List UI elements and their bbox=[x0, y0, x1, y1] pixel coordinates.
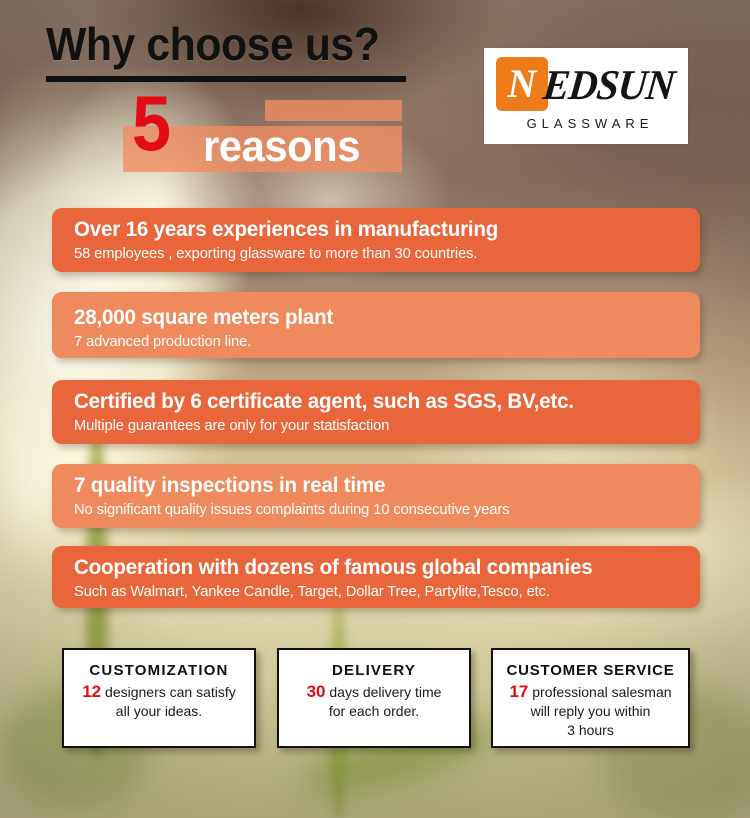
reason-bar-2-subtitle: 7 advanced production line. bbox=[74, 331, 670, 352]
highlight-card-customer-service-line2: will reply you within bbox=[531, 703, 651, 719]
reason-bar-2-title: 28,000 square meters plant bbox=[74, 304, 670, 331]
reason-bar-1: Over 16 years experiences in manufacturi… bbox=[52, 208, 700, 272]
highlight-card-customer-service-number: 17 bbox=[509, 682, 528, 701]
reason-bar-4-subtitle: No significant quality issues complaints… bbox=[74, 499, 670, 520]
highlight-card-delivery-number: 30 bbox=[307, 682, 326, 701]
highlight-card-delivery-line1: days delivery time bbox=[329, 684, 441, 700]
reason-bar-5-title: Cooperation with dozens of famous global… bbox=[74, 554, 670, 581]
reason-bar-1-title: Over 16 years experiences in manufacturi… bbox=[74, 216, 670, 243]
highlight-card-delivery: DELIVERY 30 days delivery time for each … bbox=[277, 648, 471, 748]
highlight-card-customer-service: CUSTOMER SERVICE 17 professional salesma… bbox=[491, 648, 690, 748]
reason-bar-4-title: 7 quality inspections in real time bbox=[74, 472, 670, 499]
reason-bar-5-subtitle: Such as Walmart, Yankee Candle, Target, … bbox=[74, 581, 670, 602]
reason-bar-4: 7 quality inspections in real time No si… bbox=[52, 464, 700, 528]
highlight-card-customization-line1: designers can satisfy bbox=[105, 684, 236, 700]
highlight-card-delivery-title: DELIVERY bbox=[285, 660, 463, 682]
highlight-card-customer-service-body: 17 professional salesman will reply you … bbox=[499, 682, 682, 740]
highlight-card-customization-line2: all your ideas. bbox=[116, 703, 202, 719]
reason-bar-3-subtitle: Multiple guarantees are only for your st… bbox=[74, 415, 670, 436]
reason-bar-2: 28,000 square meters plant 7 advanced pr… bbox=[52, 292, 700, 358]
highlight-card-customer-service-line3: 3 hours bbox=[567, 722, 614, 738]
highlight-card-customization-body: 12 designers can satisfy all your ideas. bbox=[70, 682, 248, 721]
highlight-card-customer-service-line1: professional salesman bbox=[532, 684, 671, 700]
reason-bar-5: Cooperation with dozens of famous global… bbox=[52, 546, 700, 608]
highlight-card-customization-title: CUSTOMIZATION bbox=[70, 660, 248, 682]
highlight-card-customer-service-title: CUSTOMER SERVICE bbox=[499, 660, 682, 682]
reason-bar-3: Certified by 6 certificate agent, such a… bbox=[52, 380, 700, 444]
highlight-card-delivery-body: 30 days delivery time for each order. bbox=[285, 682, 463, 721]
reason-bar-1-subtitle: 58 employees , exporting glassware to mo… bbox=[74, 243, 670, 264]
promotional-poster: Why choose us? 5 reasons N EDSUN GLASSWA… bbox=[0, 0, 750, 818]
reason-bar-3-title: Certified by 6 certificate agent, such a… bbox=[74, 388, 670, 415]
highlight-card-customization-number: 12 bbox=[82, 682, 101, 701]
highlight-card-customization: CUSTOMIZATION 12 designers can satisfy a… bbox=[62, 648, 256, 748]
highlight-card-delivery-line2: for each order. bbox=[329, 703, 419, 719]
